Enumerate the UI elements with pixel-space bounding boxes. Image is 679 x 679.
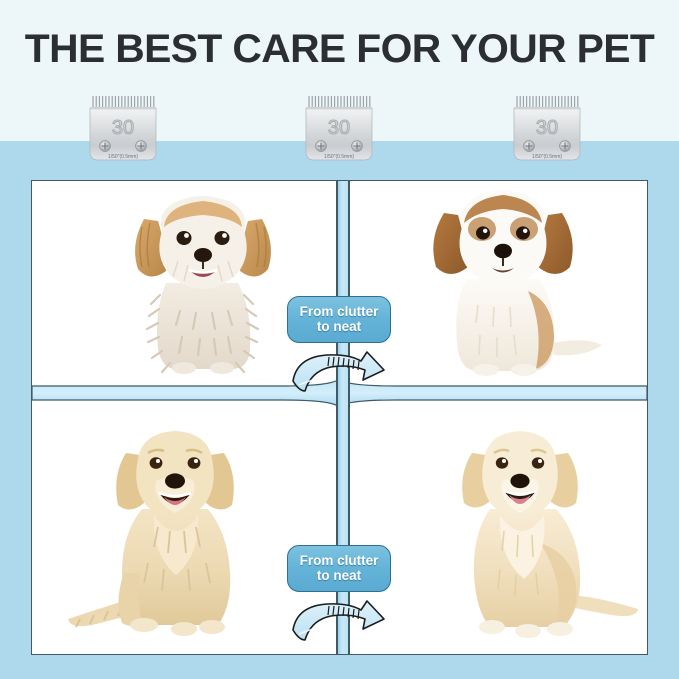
svg-text:30: 30 — [112, 117, 134, 139]
dog-photo-before-retriever — [64, 423, 294, 645]
clipper-blade-icon: 30 1/50"(0.5mm) — [84, 94, 162, 166]
callout-line-2: to neat — [292, 568, 386, 583]
curved-arrow-icon — [287, 347, 391, 399]
callout-badge-row-1: From clutter to neat — [287, 296, 391, 399]
callout-line-1: From clutter — [292, 304, 386, 319]
clipper-blade-icon: 30 1/50"(0.5mm) — [508, 94, 586, 166]
blade-cut-length-left: 1/50"(0.5mm) — [108, 154, 138, 160]
promo-image: THE BEST CARE FOR YOUR PET — [0, 0, 679, 679]
dog-photo-before-terrier — [110, 191, 295, 376]
page-title: THE BEST CARE FOR YOUR PET — [0, 26, 679, 72]
dog-photo-after-terrier — [402, 187, 617, 382]
callout-badge-row-2: From clutter to neat — [287, 545, 391, 648]
clipper-blade-icon: 30 1/50"(0.5mm) — [300, 94, 378, 166]
svg-text:30: 30 — [536, 117, 558, 139]
blade-cut-length-right: 1/50"(0.5mm) — [532, 154, 562, 160]
callout-line-1: From clutter — [292, 553, 386, 568]
blade-cut-length-center: 1/50"(0.5mm) — [324, 154, 354, 160]
callout-bubble: From clutter to neat — [287, 545, 391, 592]
bottom-background-band — [0, 655, 679, 679]
dog-photo-after-retriever — [424, 423, 648, 645]
svg-text:30: 30 — [328, 117, 350, 139]
curved-arrow-icon — [287, 596, 391, 648]
callout-bubble: From clutter to neat — [287, 296, 391, 343]
callout-line-2: to neat — [292, 319, 386, 334]
